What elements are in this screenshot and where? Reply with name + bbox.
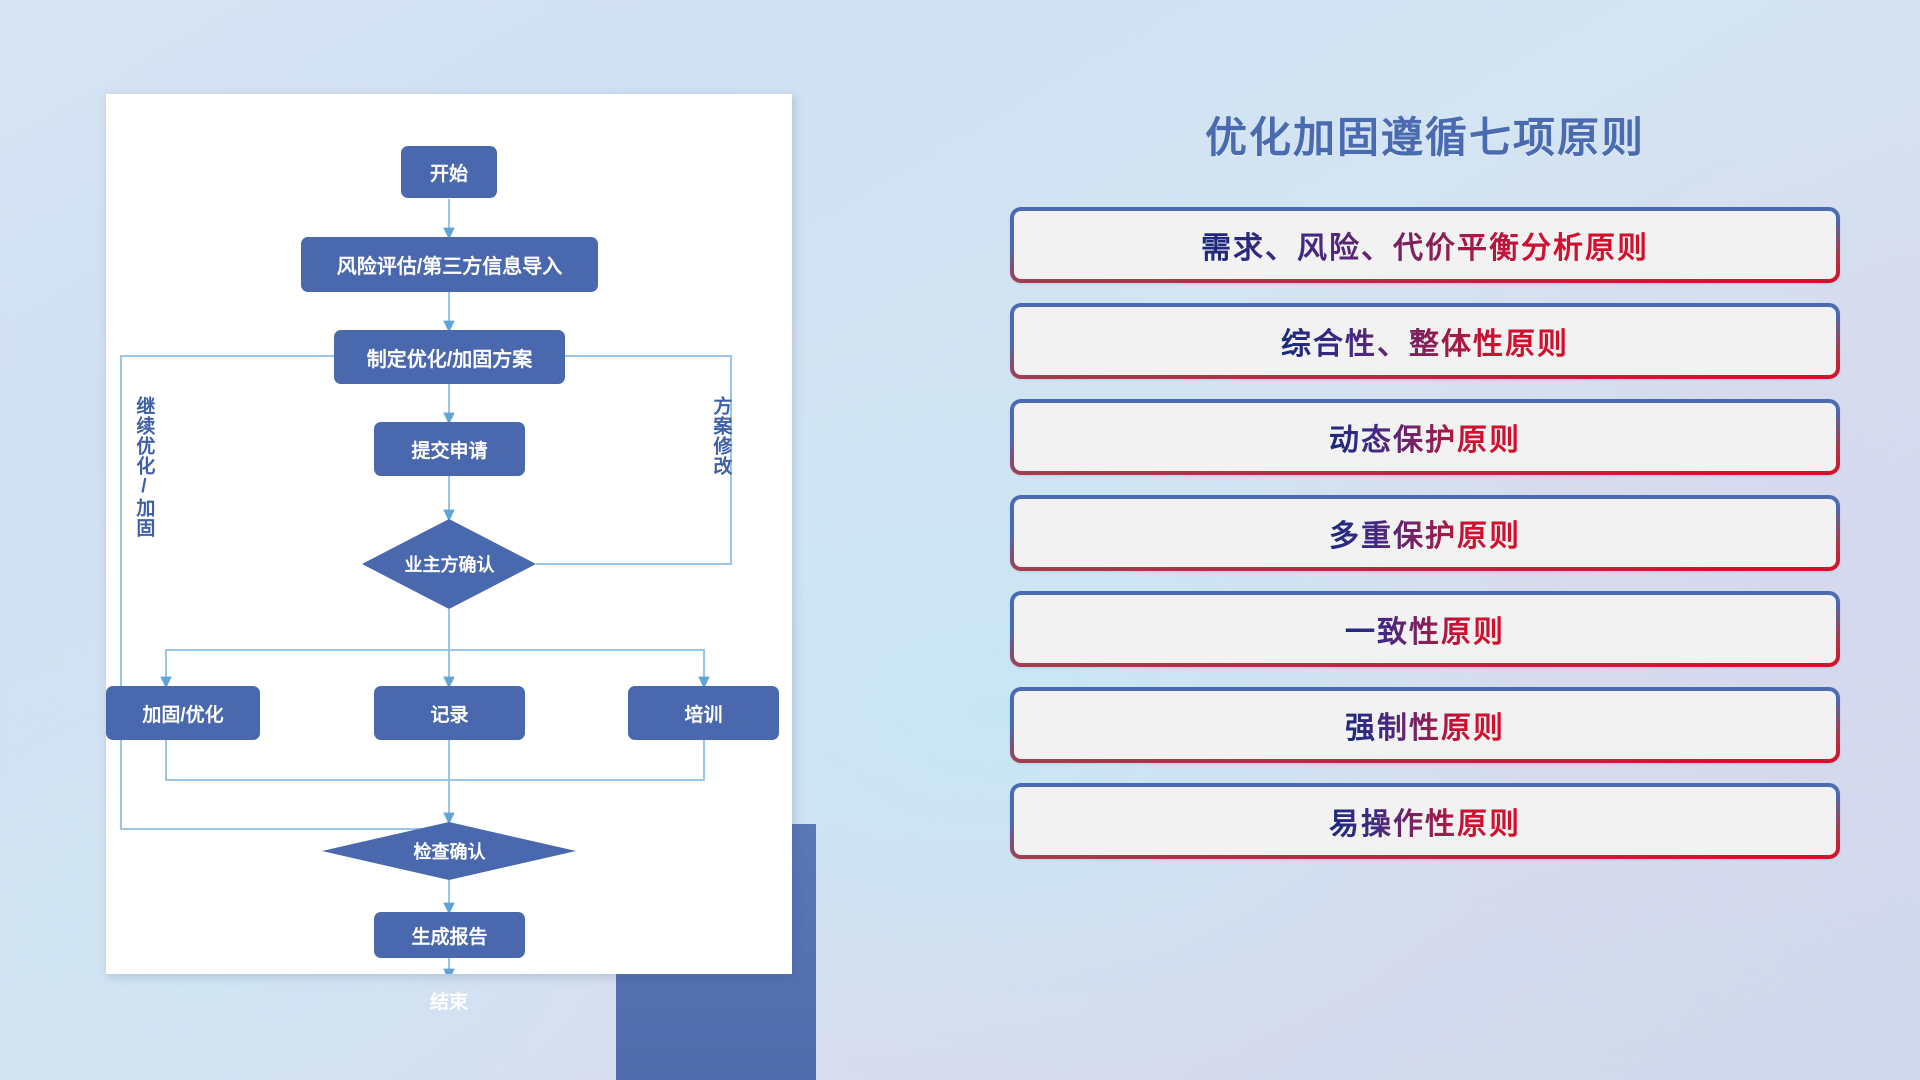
flowchart-panel: 开始 风险评估/第三方信息导入 制定优化/加固方案 提交申请 业主方确认 加固/… bbox=[106, 94, 796, 994]
flow-node-record[interactable] bbox=[374, 686, 525, 740]
principle-card-label: 多重保护原则 bbox=[1329, 511, 1521, 555]
flow-node-end-label: 结束 bbox=[396, 978, 502, 1022]
flow-node-plan[interactable] bbox=[334, 330, 565, 384]
principle-card[interactable]: 多重保护原则 bbox=[1010, 495, 1840, 571]
flow-node-start[interactable] bbox=[401, 146, 497, 198]
principle-card-label: 一致性原则 bbox=[1345, 607, 1505, 651]
flow-node-train[interactable] bbox=[628, 686, 779, 740]
principle-card[interactable]: 一致性原则 bbox=[1010, 591, 1840, 667]
flow-node-risk[interactable] bbox=[301, 237, 598, 292]
flowchart-connectors bbox=[106, 94, 792, 974]
principle-card-label: 易操作性原则 bbox=[1329, 799, 1521, 843]
flow-node-reinforce[interactable] bbox=[106, 686, 260, 740]
principle-card-label: 动态保护原则 bbox=[1329, 415, 1521, 459]
principles-panel: 优化加固遵循七项原则 需求、风险、代价平衡分析原则 综合性、整体性原则 动态保护… bbox=[1010, 80, 1840, 1040]
flow-edge-label-plan-revise: 方案修改 bbox=[711, 396, 730, 516]
principle-card[interactable]: 易操作性原则 bbox=[1010, 783, 1840, 859]
flow-node-check-confirm[interactable] bbox=[322, 822, 576, 880]
principle-card-label: 需求、风险、代价平衡分析原则 bbox=[1201, 223, 1649, 267]
principle-card[interactable]: 强制性原则 bbox=[1010, 687, 1840, 763]
principle-card-label: 强制性原则 bbox=[1345, 703, 1505, 747]
flowchart-card: 开始 风险评估/第三方信息导入 制定优化/加固方案 提交申请 业主方确认 加固/… bbox=[106, 94, 792, 974]
flow-node-owner-confirm[interactable] bbox=[362, 519, 536, 609]
flow-node-report[interactable] bbox=[374, 912, 525, 958]
panel-title: 优化加固遵循七项原则 bbox=[1010, 104, 1840, 165]
flow-edge-label-continue-optimize: 继续优化/加固 bbox=[134, 396, 153, 566]
principle-card[interactable]: 综合性、整体性原则 bbox=[1010, 303, 1840, 379]
principles-card-list: 需求、风险、代价平衡分析原则 综合性、整体性原则 动态保护原则 多重保护原则 一… bbox=[1010, 207, 1840, 859]
principle-card-label: 综合性、整体性原则 bbox=[1281, 319, 1569, 363]
principle-card[interactable]: 动态保护原则 bbox=[1010, 399, 1840, 475]
principle-card[interactable]: 需求、风险、代价平衡分析原则 bbox=[1010, 207, 1840, 283]
flow-node-submit[interactable] bbox=[374, 422, 525, 476]
